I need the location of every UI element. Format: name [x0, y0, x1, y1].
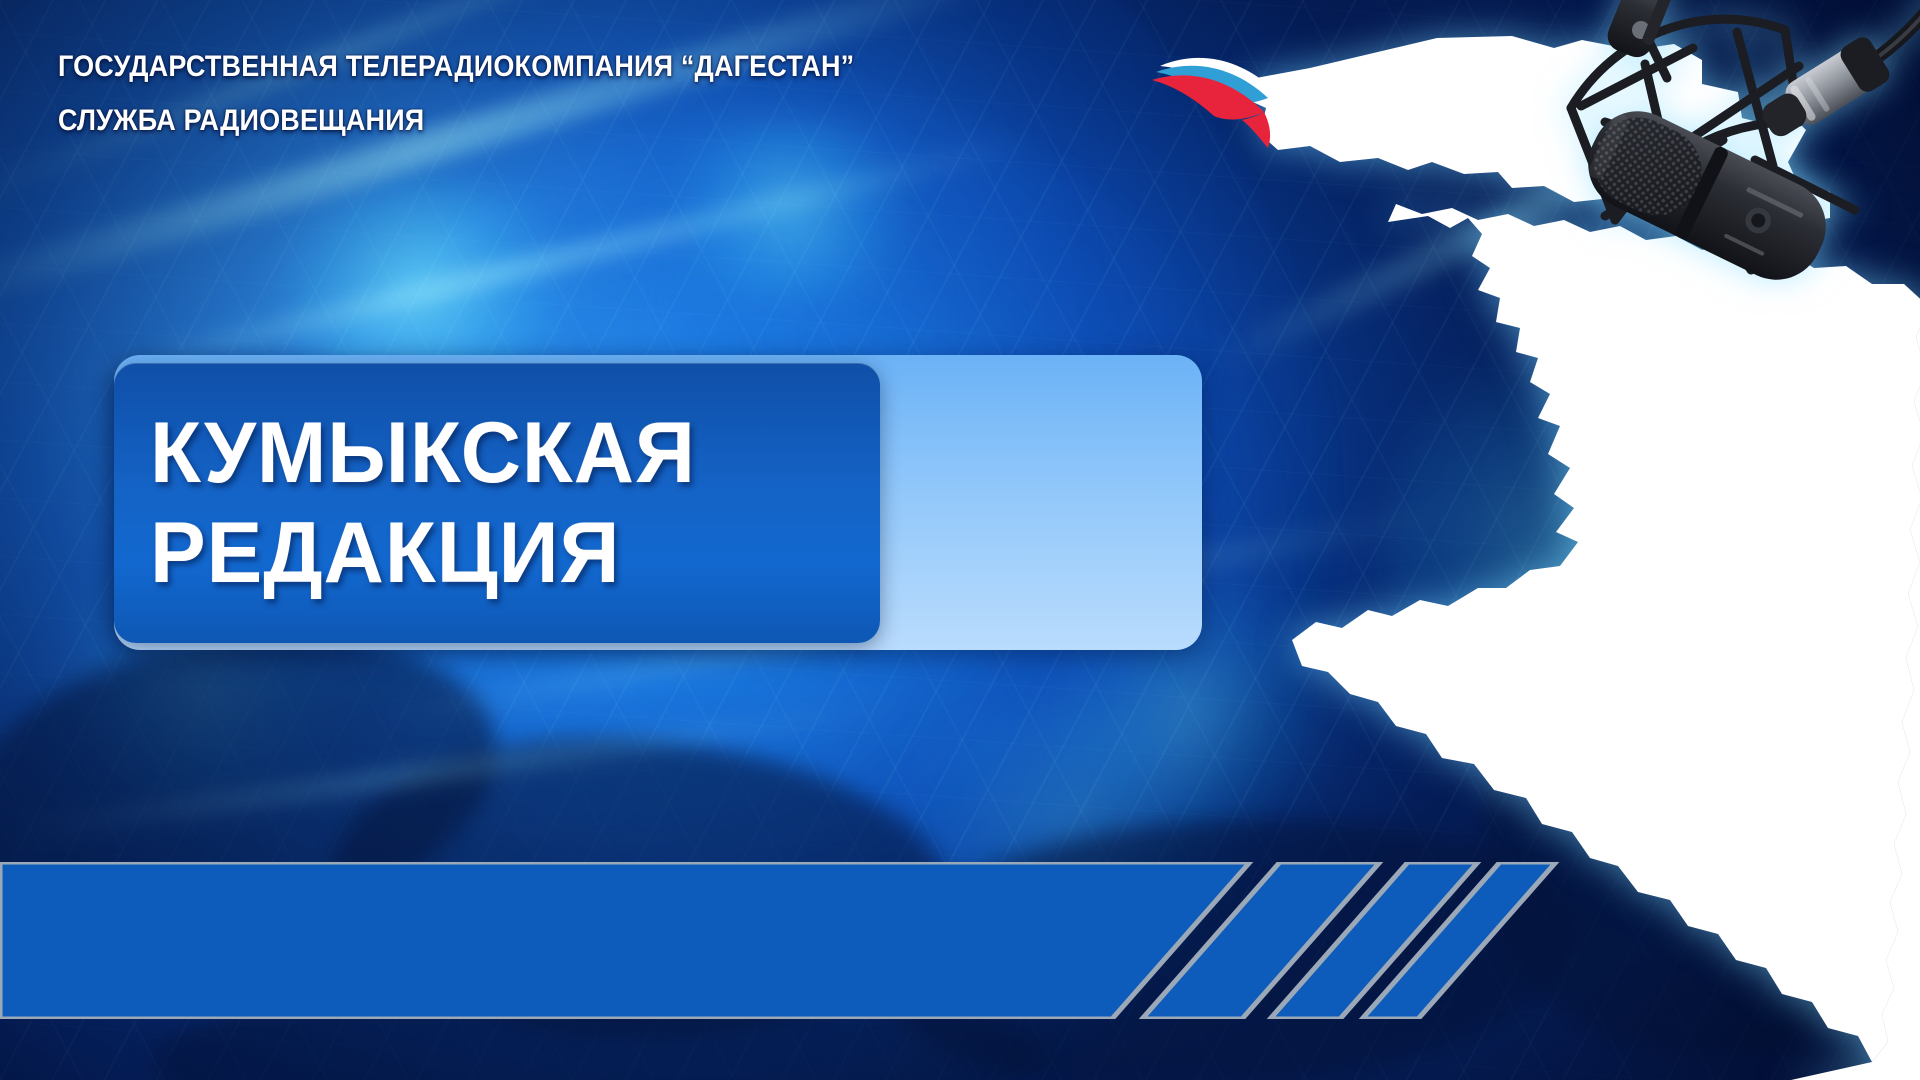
program-title-line2: РЕДАКЦИЯ	[150, 511, 620, 595]
studio-microphone	[1455, 0, 1920, 330]
broadcaster-header: ГОСУДАРСТВЕННАЯ ТЕЛЕРАДИОКОМПАНИЯ “ДАГЕС…	[58, 52, 943, 136]
mic-xlr-connector	[1754, 33, 1893, 147]
lower-third-banner	[0, 862, 1560, 1019]
banner-main-bar	[0, 862, 1250, 1019]
broadcaster-service: СЛУЖБА РАДИОВЕЩАНИЯ	[58, 106, 854, 136]
vgtrk-swoosh-logo	[1146, 36, 1296, 156]
broadcast-title-card: КУМЫКСКАЯ РЕДАКЦИЯ ГОСУДАРСТВЕННАЯ ТЕЛЕР…	[0, 0, 1920, 1080]
title-panel-inner: КУМЫКСКАЯ РЕДАКЦИЯ	[114, 363, 880, 643]
program-title-line1: КУМЫКСКАЯ	[150, 411, 696, 495]
broadcaster-name: ГОСУДАРСТВЕННАЯ ТЕЛЕРАДИОКОМПАНИЯ “ДАГЕС…	[58, 52, 854, 82]
